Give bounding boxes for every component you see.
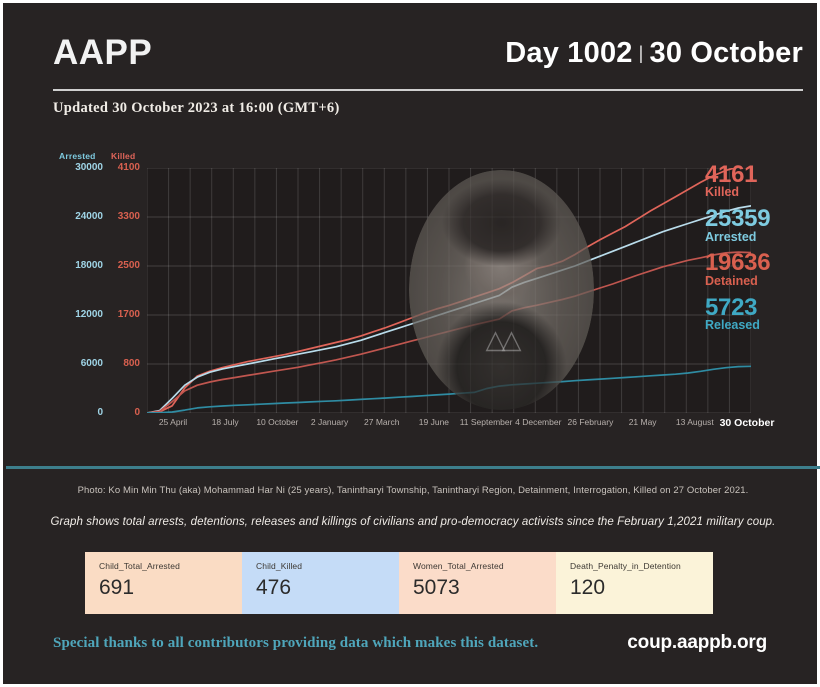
day-label: Day 1002 bbox=[505, 37, 632, 69]
x-tick: 30 October bbox=[720, 417, 775, 429]
graph-note: Graph shows total arrests, detentions, r… bbox=[3, 516, 820, 528]
plot-area: △△ bbox=[147, 168, 751, 413]
photo-credit: Photo: Ko Min Min Thu (aka) Mohammad Har… bbox=[3, 485, 820, 496]
y-tick-left: 0 bbox=[51, 408, 103, 418]
summary-cards: Child_Total_Arrested691Child_Killed476Wo… bbox=[85, 552, 713, 614]
stat-value: 4161 bbox=[705, 163, 817, 187]
stat-callout: 4161Killed bbox=[705, 163, 817, 200]
stat-callouts: 4161Killed25359Arrested19636Detained5723… bbox=[705, 163, 817, 340]
y-tick-right: 3300 bbox=[108, 212, 140, 222]
summary-card-value: 120 bbox=[570, 577, 713, 598]
x-tick: 25 April bbox=[159, 417, 187, 427]
y-tick-left: 30000 bbox=[51, 163, 103, 173]
y-tick-right: 800 bbox=[108, 359, 140, 369]
stat-value: 19636 bbox=[705, 251, 817, 275]
y-tick-right: 2500 bbox=[108, 261, 140, 271]
portrait-logo-icon: △△ bbox=[486, 324, 518, 355]
victim-portrait: △△ bbox=[409, 170, 594, 410]
x-tick: 26 February bbox=[568, 417, 614, 427]
stat-label: Killed bbox=[705, 186, 817, 200]
day-counter: Day 1002|30 October bbox=[505, 37, 803, 70]
y-tick-left: 24000 bbox=[51, 212, 103, 222]
summary-card: Child_Killed476 bbox=[242, 552, 399, 614]
stat-callout: 19636Detained bbox=[705, 251, 817, 288]
day-separator: | bbox=[633, 43, 650, 63]
y-axis-left-title: Arrested bbox=[59, 151, 96, 161]
stat-callout: 25359Arrested bbox=[705, 207, 817, 244]
chart: Arrested Killed 060001200018000240003000… bbox=[51, 151, 803, 436]
y-tick-left: 12000 bbox=[51, 310, 103, 320]
y-tick-right: 1700 bbox=[108, 310, 140, 320]
summary-card: Women_Total_Arrested5073 bbox=[399, 552, 556, 614]
stat-value: 25359 bbox=[705, 207, 817, 231]
thanks-text: Special thanks to all contributors provi… bbox=[53, 635, 538, 652]
aapp-poster: AAPP Day 1002|30 October Updated 30 Octo… bbox=[0, 0, 820, 687]
brand-title: AAPP bbox=[53, 35, 152, 70]
summary-card-value: 691 bbox=[99, 577, 242, 598]
summary-card: Death_Penalty_in_Detention120 bbox=[556, 552, 713, 614]
date-label: 30 October bbox=[650, 37, 804, 69]
x-tick: 27 March bbox=[364, 417, 399, 427]
portrait-image bbox=[409, 170, 594, 410]
stat-label: Detained bbox=[705, 275, 817, 289]
header-divider bbox=[53, 89, 803, 91]
updated-timestamp: Updated 30 October 2023 at 16:00 (GMT+6) bbox=[53, 100, 340, 117]
poster-header: AAPP Day 1002|30 October bbox=[53, 33, 803, 91]
y-tick-left: 18000 bbox=[51, 261, 103, 271]
x-tick: 21 May bbox=[629, 417, 657, 427]
x-axis-ticks: 25 April18 July10 October2 January27 Mar… bbox=[147, 417, 751, 433]
x-tick: 18 July bbox=[212, 417, 239, 427]
x-tick: 4 December bbox=[515, 417, 561, 427]
x-tick: 19 June bbox=[419, 417, 449, 427]
summary-card-value: 5073 bbox=[413, 577, 556, 598]
stat-label: Released bbox=[705, 319, 817, 333]
website-link[interactable]: coup.aappb.org bbox=[627, 632, 767, 654]
stat-callout: 5723Released bbox=[705, 296, 817, 333]
summary-card-key: Child_Killed bbox=[256, 561, 399, 571]
summary-card-key: Death_Penalty_in_Detention bbox=[570, 561, 713, 571]
summary-card: Child_Total_Arrested691 bbox=[85, 552, 242, 614]
summary-card-key: Women_Total_Arrested bbox=[413, 561, 556, 571]
x-tick: 10 October bbox=[256, 417, 298, 427]
y-tick-right: 0 bbox=[108, 408, 140, 418]
x-tick: 11 September bbox=[460, 417, 513, 427]
y-tick-left: 6000 bbox=[51, 359, 103, 369]
x-tick: 13 August bbox=[676, 417, 714, 427]
stat-value: 5723 bbox=[705, 296, 817, 320]
section-divider bbox=[6, 466, 820, 469]
y-tick-right: 4100 bbox=[108, 163, 140, 173]
summary-card-key: Child_Total_Arrested bbox=[99, 561, 242, 571]
x-tick: 2 January bbox=[311, 417, 348, 427]
summary-card-value: 476 bbox=[256, 577, 399, 598]
stat-label: Arrested bbox=[705, 231, 817, 245]
y-axis-right-title: Killed bbox=[111, 151, 135, 161]
